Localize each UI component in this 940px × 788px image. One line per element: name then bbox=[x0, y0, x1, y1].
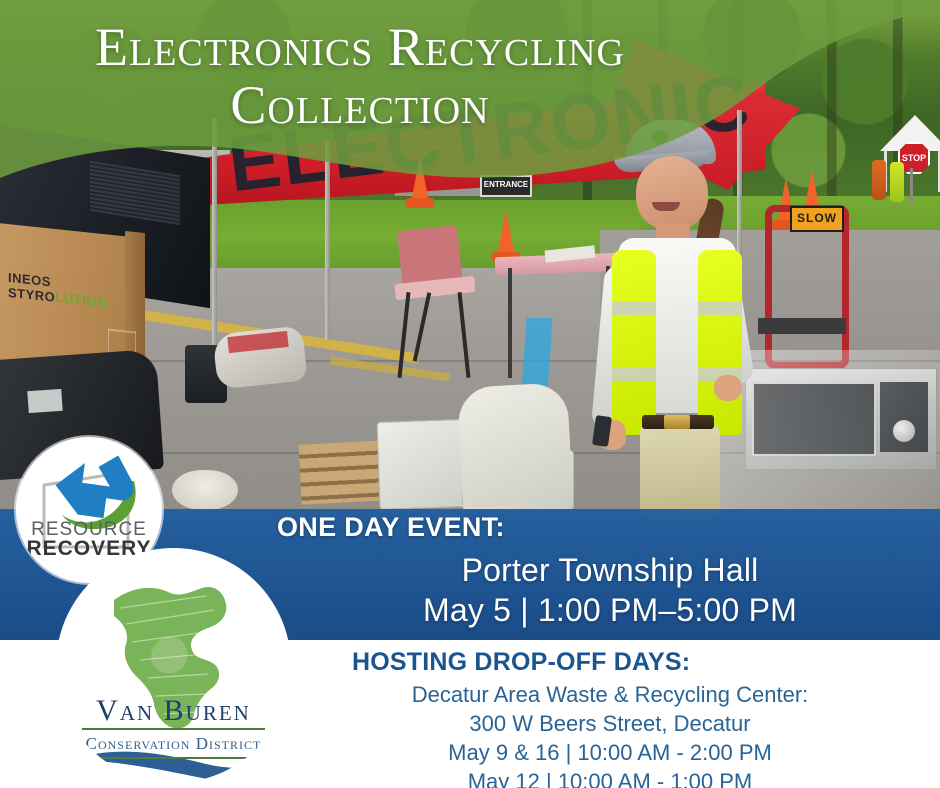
vest-reflective-stripe bbox=[698, 302, 742, 315]
page-title: Electronics Recycling Collection bbox=[0, 18, 720, 135]
person-shorts bbox=[640, 426, 720, 521]
van-buren-conservation-district-logo: Van Buren Conservation District bbox=[56, 548, 291, 783]
dropoff-heading: HOSTING DROP-OFF DAYS: bbox=[352, 648, 690, 677]
vest-reflective-stripe bbox=[612, 368, 656, 381]
person-face bbox=[636, 156, 708, 230]
equipment-label bbox=[27, 389, 62, 413]
vest-left-panel bbox=[612, 250, 656, 435]
entrance-sign: ENTRANCE bbox=[480, 175, 532, 197]
flyer-canvas: ELECTRONICS STOP ENTRANCE INEOS STYROLUT… bbox=[0, 0, 940, 788]
slow-sign: SLOW bbox=[790, 206, 844, 232]
background-worker bbox=[890, 162, 904, 202]
vb-line-1: Van Buren bbox=[56, 696, 291, 726]
dropoff-line: May 9 & 16 | 10:00 AM - 2:00 PM bbox=[300, 738, 920, 767]
van-buren-logo-text: Van Buren Conservation District bbox=[56, 696, 291, 759]
person-right-hand bbox=[714, 375, 742, 401]
event-venue: Porter Township Hall bbox=[300, 552, 920, 589]
vest-right-panel bbox=[698, 250, 742, 435]
title-line-1: Electronics Recycling bbox=[95, 17, 625, 77]
vb-line-2: Conservation District bbox=[56, 734, 291, 754]
dropoff-line: 300 W Beers Street, Decatur bbox=[300, 709, 920, 738]
volunteer-person bbox=[590, 120, 750, 520]
table-leg bbox=[508, 268, 512, 378]
dropoff-line: Decatur Area Waste & Recycling Center: bbox=[300, 680, 920, 709]
stop-sign-post bbox=[910, 168, 913, 204]
white-folding-chair bbox=[457, 382, 573, 508]
title-line-2: Collection bbox=[0, 76, 720, 134]
tent-pole bbox=[325, 140, 330, 340]
vb-divider bbox=[76, 757, 271, 759]
shrink-wrap-roll bbox=[172, 470, 238, 510]
tent-pole bbox=[212, 118, 217, 348]
dropoff-line: May 12 | 10:00 AM - 1:00 PM bbox=[300, 767, 920, 788]
background-worker bbox=[872, 160, 886, 200]
dropoff-details: Decatur Area Waste & Recycling Center: 3… bbox=[300, 680, 920, 788]
vest-reflective-stripe bbox=[612, 302, 656, 315]
hand-truck-plate bbox=[758, 318, 846, 334]
person-safety-vest bbox=[612, 250, 742, 435]
event-date-time: May 5 | 1:00 PM–5:00 PM bbox=[300, 592, 920, 629]
one-day-event-heading: ONE DAY EVENT: bbox=[277, 512, 505, 543]
person-belt-buckle bbox=[664, 415, 690, 429]
vb-divider bbox=[82, 728, 265, 730]
